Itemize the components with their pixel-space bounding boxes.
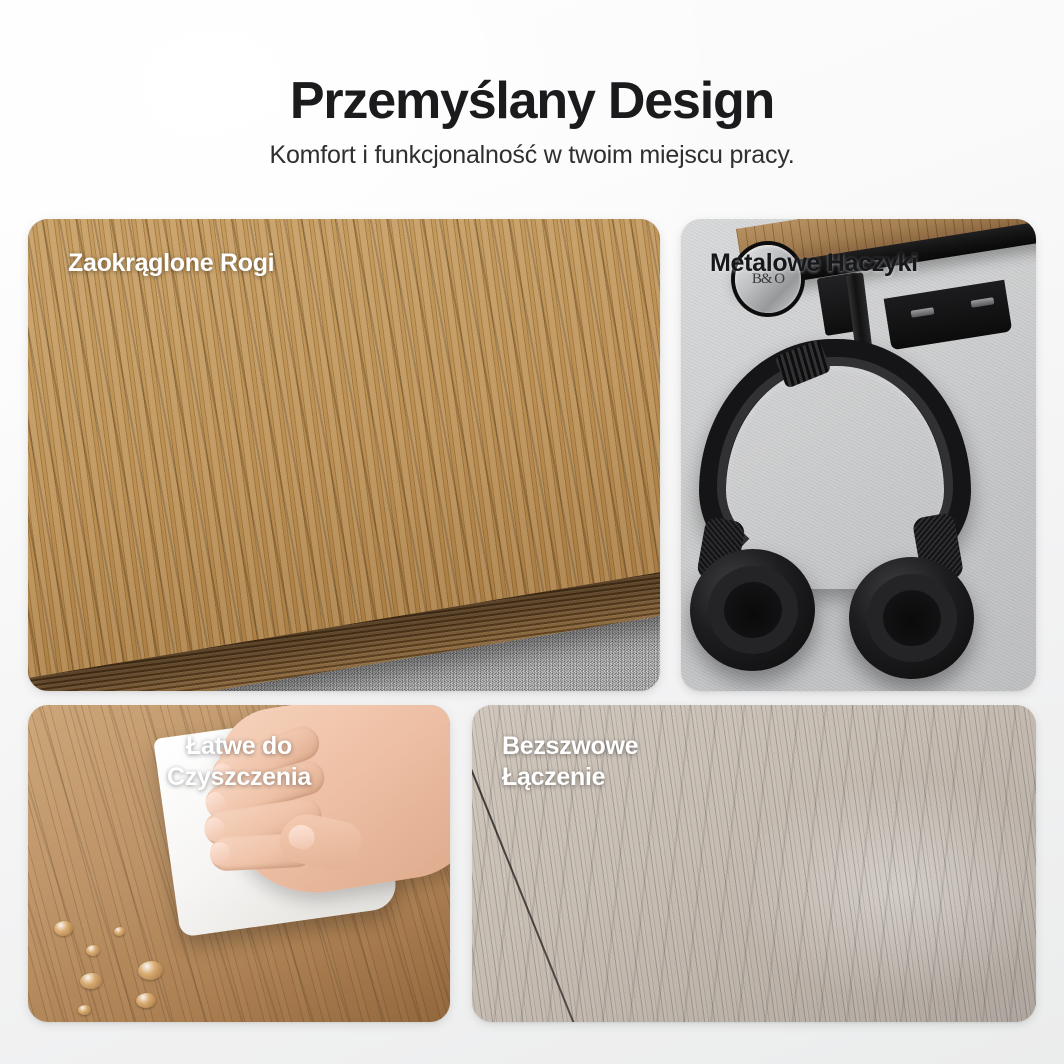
water-droplet [138,961,163,980]
water-droplet [136,993,156,1008]
earpad-left [704,561,803,658]
water-droplet [114,927,125,936]
feature-card-rounded-corners[interactable]: Zaokrąglone Rogi [28,219,660,691]
feature-card-metal-hooks[interactable]: B& O Metalowe Haczyki [681,219,1036,691]
rounded-corner-photo [28,219,660,691]
feature-card-grid: Zaokrąglone Rogi [0,0,1064,1064]
feature-card-seamless-joint[interactable]: Bezszwowe Łączenie [472,705,1036,1022]
card-label-rounded-corners: Zaokrąglone Rogi [68,248,274,279]
card-label-seamless-joint: Bezszwowe Łączenie [502,731,638,792]
feature-collage-page: Przemyślany Design Komfort i funkcjonaln… [0,0,1064,1064]
headphone-hook-photo: B& O [681,219,1036,691]
earpad-right [864,571,960,665]
water-droplet [80,973,102,989]
card-label-metal-hooks: Metalowe Haczyki [710,248,918,279]
feature-card-easy-cleaning[interactable]: Łatwe do Czyszczenia [28,705,450,1022]
water-droplet [54,921,73,936]
thumbnail [286,823,316,852]
card-label-easy-cleaning: Łatwe do Czyszczenia [28,731,450,792]
water-droplet [78,1005,91,1015]
water-droplet [86,945,100,956]
fingernail [209,842,230,866]
